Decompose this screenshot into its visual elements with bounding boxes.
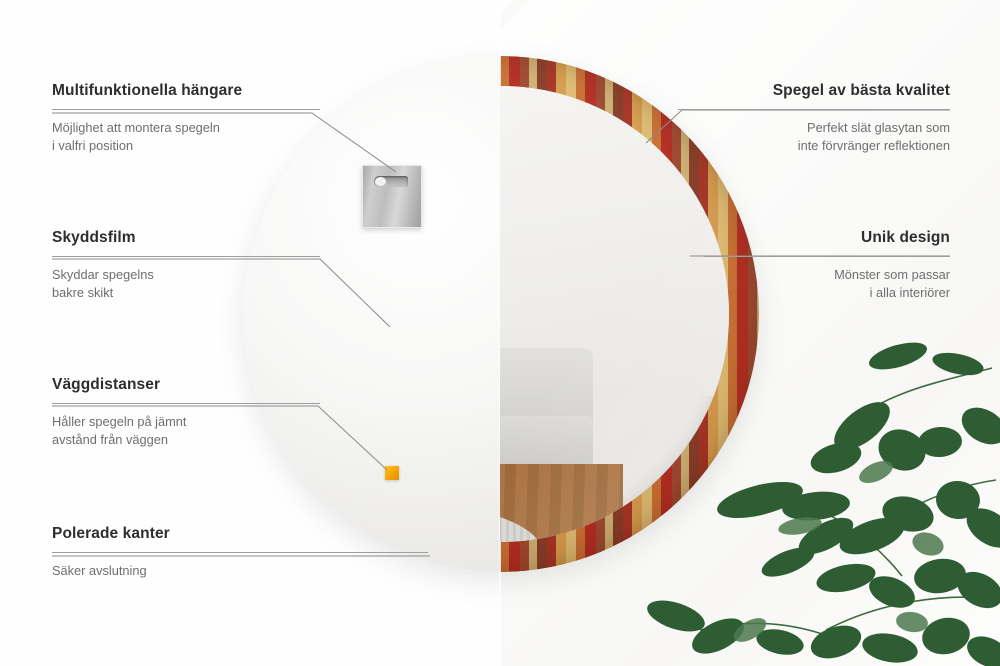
callout-vaggdistanser: Väggdistanser Håller spegeln på jämnt av…	[52, 376, 320, 449]
callout-description: Säker avslutning	[52, 562, 428, 580]
callout-divider	[704, 256, 950, 257]
callout-unik-design: Unik design Mönster som passar i alla in…	[704, 229, 950, 302]
callout-title: Väggdistanser	[52, 376, 320, 394]
callout-divider	[52, 552, 428, 553]
callout-description: Skyddar spegelns bakre skikt	[52, 266, 320, 302]
callout-multifunktionella-hangare: Multifunktionella hängare Möjlighet att …	[52, 82, 320, 155]
callout-polerade-kanter: Polerade kanter Säker avslutning	[52, 525, 428, 580]
callout-divider	[52, 256, 320, 257]
callout-title: Polerade kanter	[52, 525, 428, 543]
callout-title: Multifunktionella hängare	[52, 82, 320, 100]
callout-divider	[678, 109, 950, 110]
callout-title: Skyddsfilm	[52, 229, 320, 247]
callout-description: Perfekt slät glasytan som inte förvränge…	[678, 119, 950, 155]
callout-description: Mönster som passar i alla interiörer	[704, 266, 950, 302]
callout-description: Möjlighet att montera spegeln i valfri p…	[52, 119, 320, 155]
callout-divider	[52, 403, 320, 404]
callout-spegel-av-basta-kvalitet: Spegel av bästa kvalitet Perfekt slät gl…	[678, 82, 950, 155]
callout-skyddsfilm: Skyddsfilm Skyddar spegelns bakre skikt	[52, 229, 320, 302]
callout-divider	[52, 109, 320, 110]
infographic-canvas: Multifunktionella hängare Möjlighet att …	[0, 0, 1000, 666]
callout-title: Unik design	[704, 229, 950, 247]
callout-description: Håller spegeln på jämnt avstånd från väg…	[52, 413, 320, 449]
callout-title: Spegel av bästa kvalitet	[678, 82, 950, 100]
